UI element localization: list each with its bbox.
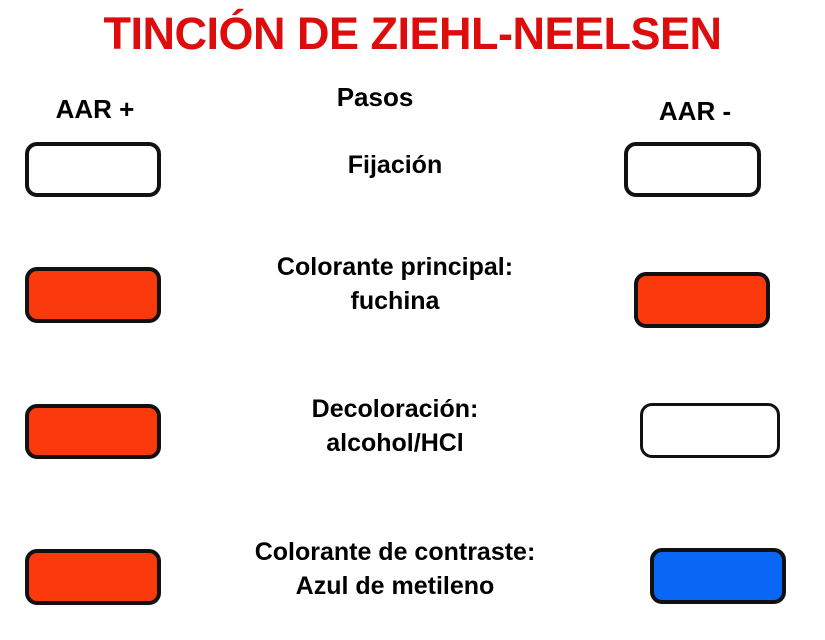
column-header-aar-positive: AAR + bbox=[20, 94, 170, 124]
step-label-2: Colorante principal: fuchina bbox=[190, 250, 600, 318]
step-label-2-line2: fuchina bbox=[190, 284, 600, 318]
step-label-4-line1: Colorante de contraste: bbox=[255, 538, 536, 566]
sample-box-aar-negative-step-2 bbox=[634, 272, 770, 328]
column-header-aar-negative: AAR - bbox=[620, 96, 770, 126]
sample-box-aar-positive-step-3 bbox=[25, 404, 161, 459]
step-label-1: Fijación bbox=[190, 148, 600, 182]
sample-box-aar-negative-step-1 bbox=[624, 142, 761, 197]
sample-box-aar-negative-step-3 bbox=[640, 403, 780, 458]
column-header-pasos: Pasos bbox=[250, 82, 500, 112]
step-label-4: Colorante de contraste: Azul de metileno bbox=[190, 535, 600, 603]
sample-box-aar-positive-step-4 bbox=[25, 549, 161, 605]
sample-box-aar-negative-step-4 bbox=[650, 548, 786, 604]
step-label-4-line2: Azul de metileno bbox=[190, 569, 600, 603]
step-label-3-line1: Decoloración: bbox=[312, 395, 479, 423]
sample-box-aar-positive-step-1 bbox=[25, 142, 161, 197]
sample-box-aar-positive-step-2 bbox=[25, 267, 161, 323]
page-title: TINCIÓN DE ZIEHL-NEELSEN bbox=[0, 6, 825, 62]
step-label-3: Decoloración: alcohol/HCl bbox=[190, 392, 600, 460]
step-label-2-line1: Colorante principal: bbox=[277, 253, 513, 281]
step-label-1-line1: Fijación bbox=[348, 151, 442, 179]
step-label-3-line2: alcohol/HCl bbox=[190, 426, 600, 460]
ziehl-neelsen-diagram: TINCIÓN DE ZIEHL-NEELSEN AAR + Pasos AAR… bbox=[0, 0, 825, 640]
